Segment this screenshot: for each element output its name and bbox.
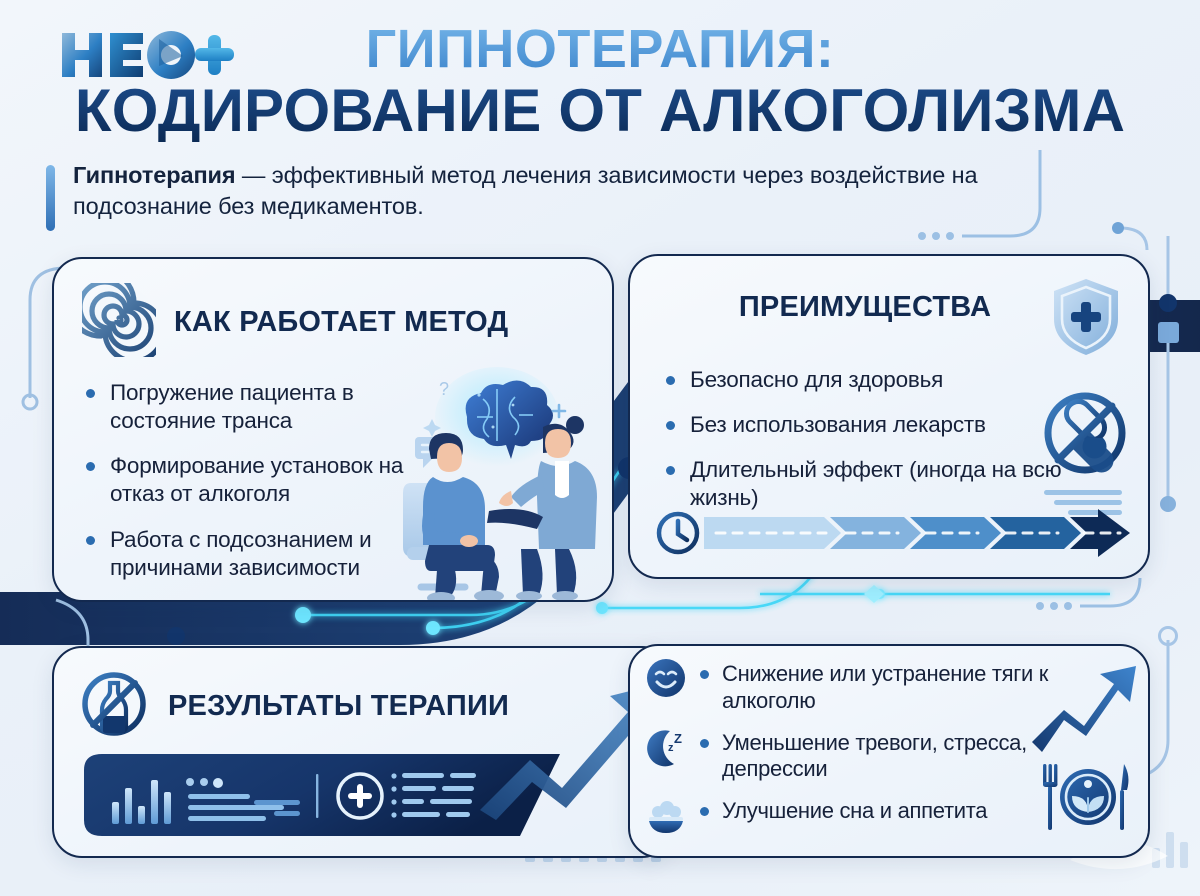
food-bowl-icon — [644, 793, 688, 837]
progress-arrow-icon — [654, 509, 1130, 557]
list-item: Безопасно для здоровья — [664, 366, 1064, 394]
title-line-2: КОДИРОВАНИЕ ОТ АЛКОГОЛИЗМА — [0, 79, 1200, 142]
results-title: РЕЗУЛЬТАТЫ ТЕРАПИИ — [168, 691, 509, 722]
smiling-face-icon — [644, 656, 688, 700]
effect-text: Снижение или устранение тяги к алкоголю — [698, 658, 1064, 715]
list-item: Снижение или устранение тяги к алкоголю — [644, 658, 1064, 715]
list-item: Улучшение сна и аппетита — [644, 795, 1064, 837]
effects-list: Снижение или устранение тяги к алкоголю … — [644, 658, 1064, 849]
shield-plus-icon — [1050, 276, 1122, 358]
page-header: ГИПНОТЕРАПИЯ: КОДИРОВАНИЕ ОТ АЛКОГОЛИЗМА… — [0, 0, 1200, 250]
hypnotic-spiral-icon — [82, 283, 156, 362]
list-item: Без использования лекарств — [664, 411, 1064, 439]
card-therapy-effects: Снижение или устранение тяги к алкоголю … — [628, 644, 1150, 858]
growth-arrow-icon — [1030, 652, 1140, 752]
card-benefits: ПРЕИМУЩЕСТВА Безопасно для здоровья Без … — [628, 254, 1150, 579]
no-pill-icon — [1042, 390, 1128, 476]
intro-paragraph: Гипнотерапия — эффективный метод лечения… — [46, 160, 1106, 231]
svg-text:?: ? — [439, 379, 449, 399]
clock-icon — [659, 514, 697, 552]
no-alcohol-bottle-icon — [80, 670, 148, 743]
benefits-header: ПРЕИМУЩЕСТВА — [630, 292, 1100, 323]
effect-text: Уменьшение тревоги, стресса, депрессии — [698, 727, 1064, 784]
effect-text: Улучшение сна и аппетита — [698, 795, 987, 825]
therapist-patient-brain-illustration: ? — [393, 365, 614, 600]
accent-bar — [46, 165, 55, 231]
method-header: КАК РАБОТАЕТ МЕТОД — [82, 283, 508, 362]
svg-text:Z: Z — [674, 731, 682, 746]
list-item: Длительный эффект (иногда на всю жизнь) — [664, 456, 1064, 512]
list-item: z Z Уменьшение тревоги, стресса, депресс… — [644, 727, 1064, 784]
page-title: ГИПНОТЕРАПИЯ: КОДИРОВАНИЕ ОТ АЛКОГОЛИЗМА — [0, 22, 1200, 142]
title-line-1: ГИПНОТЕРАПИЯ: — [0, 22, 1200, 77]
results-header: РЕЗУЛЬТАТЫ ТЕРАПИИ — [80, 670, 509, 743]
benefits-title: ПРЕИМУЩЕСТВА — [739, 291, 991, 323]
benefits-bullet-list: Безопасно для здоровья Без использования… — [664, 366, 1064, 530]
healthy-meal-icon — [1042, 758, 1134, 836]
card-how-method-works: КАК РАБОТАЕТ МЕТОД Погружение пациента в… — [52, 257, 614, 602]
sleeping-moon-icon: z Z — [644, 725, 688, 769]
intro-strong: Гипнотерапия — [73, 162, 236, 188]
intro-text: Гипнотерапия — эффективный метод лечения… — [73, 160, 1106, 231]
method-title: КАК РАБОТАЕТ МЕТОД — [174, 307, 508, 338]
